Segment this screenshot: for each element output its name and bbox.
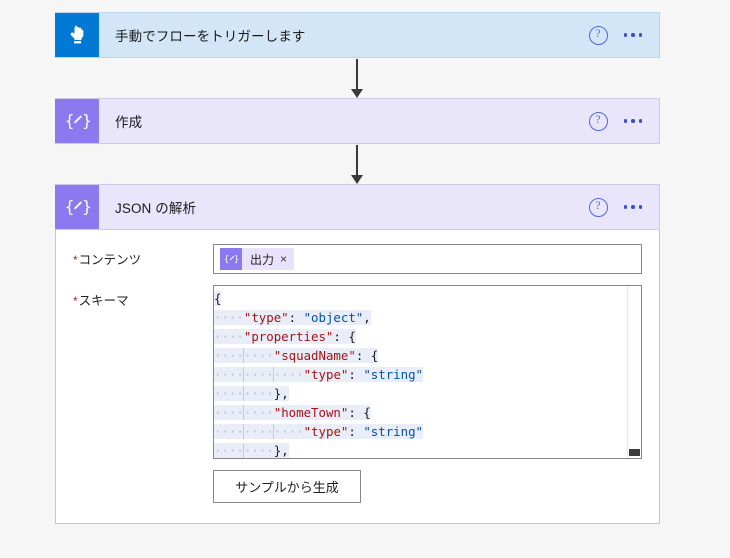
step-title: 作成 xyxy=(99,111,589,131)
code-line: ············"type": "string" xyxy=(214,365,628,384)
token-label: 出力 xyxy=(242,251,280,268)
code-line: ········}, xyxy=(214,384,628,403)
step-header[interactable]: { } 作成 ? xyxy=(55,98,660,144)
schema-actions: サンプルから生成 xyxy=(73,470,642,503)
step-title: JSON の解析 xyxy=(99,197,589,217)
code-line: ····"properties": { xyxy=(214,327,628,346)
svg-text:{: { xyxy=(65,112,74,130)
svg-text:}: } xyxy=(234,255,239,265)
svg-text:}: } xyxy=(82,198,90,216)
step-menu-button[interactable] xyxy=(624,115,643,127)
dynamic-content-token[interactable]: { } 出力 × xyxy=(220,248,294,270)
code-line: ········"homeTown": { xyxy=(214,403,628,422)
flow-step-manual-trigger[interactable]: 手動でフローをトリガーします ? xyxy=(55,12,660,58)
schema-code-editor[interactable]: {····"type": "object",····"properties": … xyxy=(213,285,642,459)
content-field-label-text: コンテンツ xyxy=(79,253,142,267)
svg-text:{: { xyxy=(224,255,229,265)
svg-text:{: { xyxy=(65,198,74,216)
step-actions: ? xyxy=(589,112,660,131)
touch-hand-icon xyxy=(55,13,99,57)
schema-field-row: *スキーマ {····"type": "object",····"propert… xyxy=(73,285,642,459)
flow-designer-canvas: 手動でフローをトリガーします ? { } 作成 ? xyxy=(0,0,730,558)
content-input[interactable]: { } 出力 × xyxy=(213,244,642,274)
code-editor-scrollbar[interactable] xyxy=(627,286,641,458)
code-lines[interactable]: {····"type": "object",····"properties": … xyxy=(214,286,628,458)
flow-step-parse-json[interactable]: { } JSON の解析 ? *コンテンツ xyxy=(55,184,660,524)
schema-field-label: *スキーマ xyxy=(73,285,213,309)
step-actions: ? xyxy=(589,198,660,217)
content-field-row: *コンテンツ { } 出力 × xyxy=(73,244,642,274)
code-line: ········}, xyxy=(214,441,628,458)
schema-field-label-text: スキーマ xyxy=(79,294,129,308)
help-icon[interactable]: ? xyxy=(589,112,608,131)
step-menu-button[interactable] xyxy=(624,201,643,213)
flow-connector-arrow xyxy=(349,145,365,184)
svg-text:}: } xyxy=(82,112,90,130)
help-icon[interactable]: ? xyxy=(589,26,608,45)
compose-braces-icon: { } xyxy=(55,99,99,143)
content-field-label: *コンテンツ xyxy=(73,244,213,268)
step-header[interactable]: 手動でフローをトリガーします ? xyxy=(55,12,660,58)
compose-braces-icon: { } xyxy=(220,248,242,270)
step-title: 手動でフローをトリガーします xyxy=(99,25,589,45)
flow-connector-arrow xyxy=(349,59,365,98)
code-line: ············"type": "string" xyxy=(214,422,628,441)
compose-braces-icon: { } xyxy=(55,185,99,229)
step-menu-button[interactable] xyxy=(624,29,643,41)
step-actions: ? xyxy=(589,26,660,45)
token-remove-icon[interactable]: × xyxy=(280,252,294,266)
required-asterisk: * xyxy=(73,294,78,308)
step-header[interactable]: { } JSON の解析 ? xyxy=(55,184,660,230)
generate-from-sample-button[interactable]: サンプルから生成 xyxy=(213,470,361,503)
scrollbar-thumb[interactable] xyxy=(629,449,640,456)
code-line: ········"squadName": { xyxy=(214,346,628,365)
step-body: *コンテンツ { } 出力 × xyxy=(55,230,660,524)
help-icon[interactable]: ? xyxy=(589,198,608,217)
required-asterisk: * xyxy=(73,253,78,267)
code-line: ····"type": "object", xyxy=(214,308,628,327)
flow-step-compose[interactable]: { } 作成 ? xyxy=(55,98,660,144)
code-line: { xyxy=(214,289,628,308)
